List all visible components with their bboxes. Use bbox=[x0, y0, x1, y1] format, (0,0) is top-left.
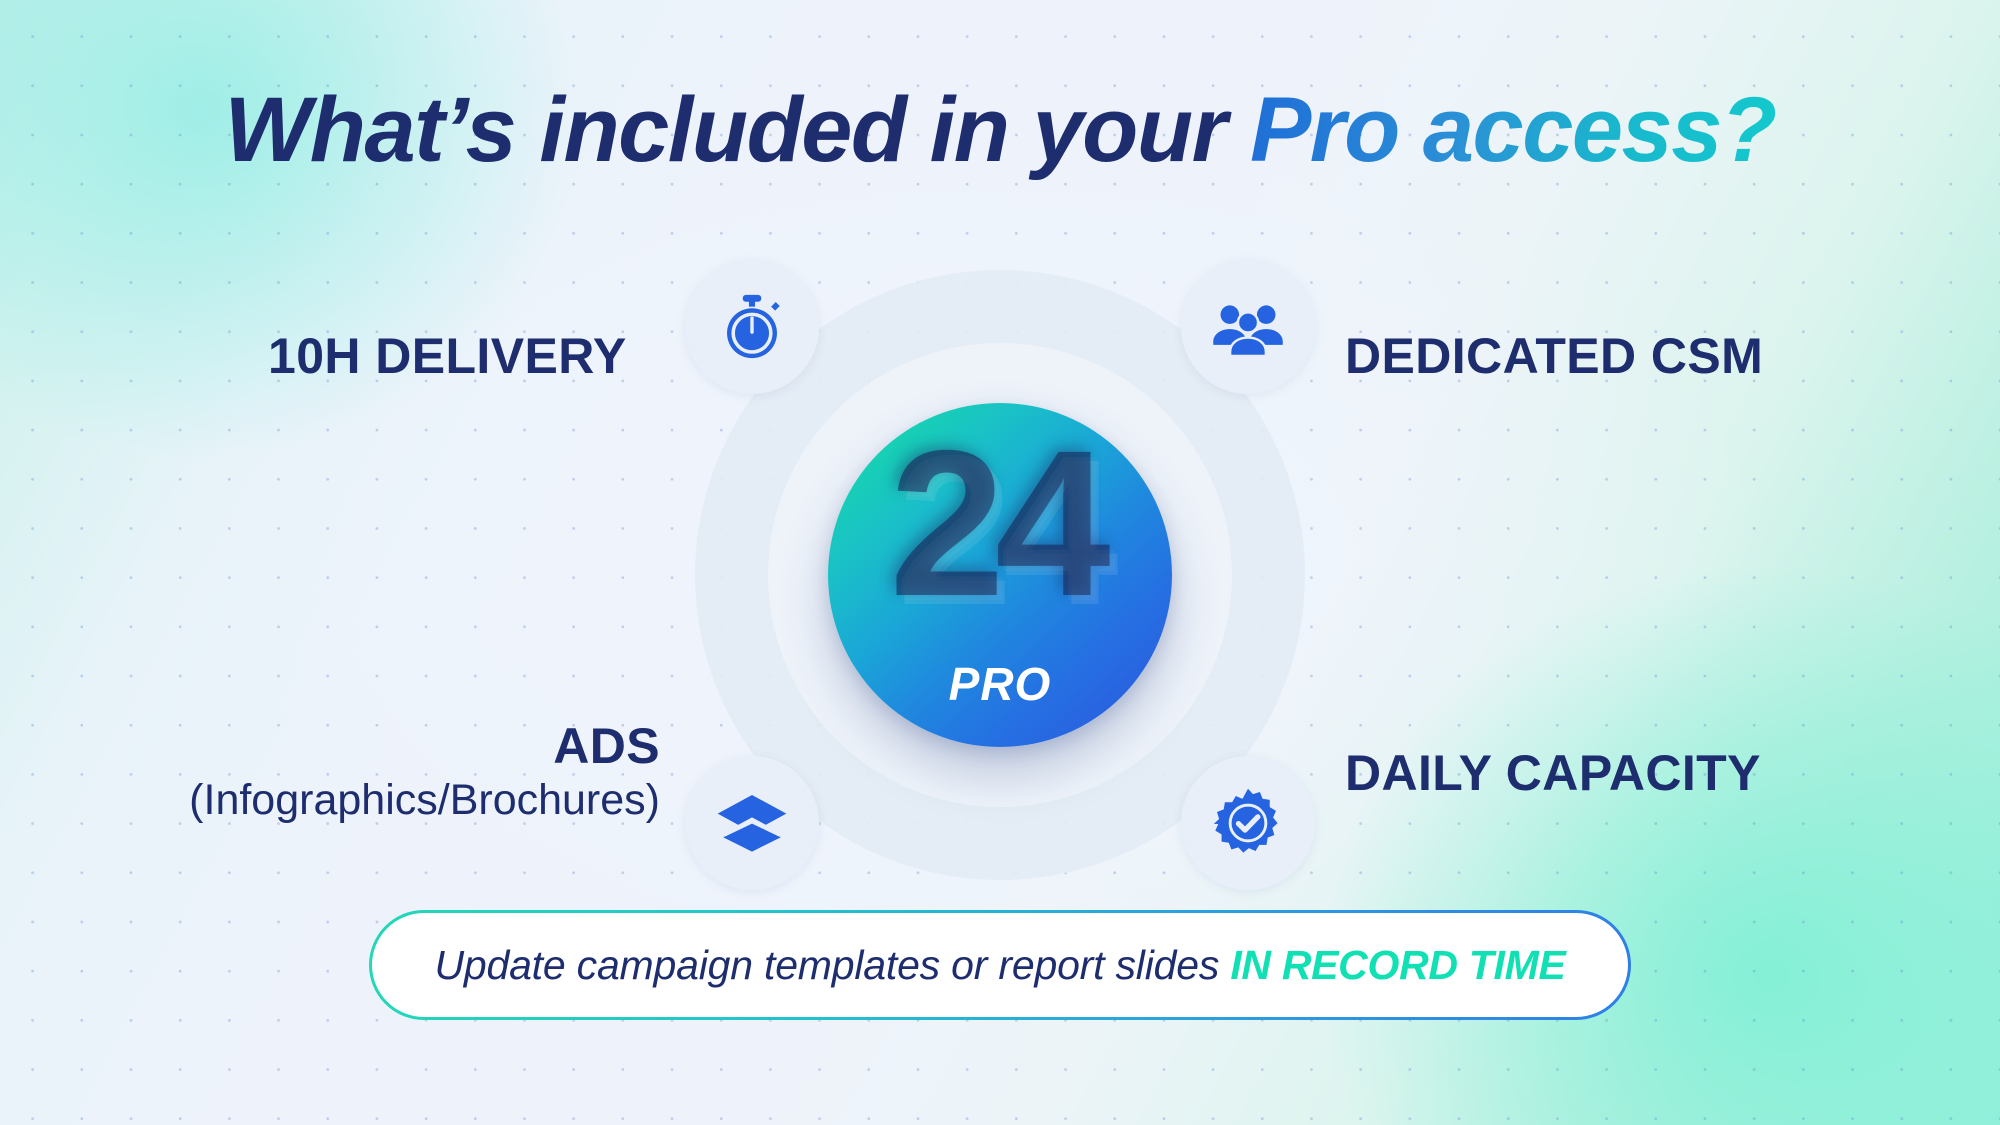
pro-logo-badge: 24 PRO bbox=[828, 403, 1172, 747]
people-group-icon bbox=[1209, 288, 1287, 366]
feature-icon-ads[interactable] bbox=[685, 756, 819, 890]
page-title-accent: Pro access? bbox=[1250, 79, 1776, 181]
feature-label-ads: ADS (Infographics/Brochures) bbox=[148, 718, 660, 824]
pro-logo-inner: 24 PRO bbox=[828, 403, 1172, 747]
feature-label-csm-text: DEDICATED CSM bbox=[1345, 328, 1763, 384]
bottom-banner-text: Update campaign templates or report slid… bbox=[434, 942, 1565, 989]
page-title-primary: What’s included in your bbox=[224, 79, 1250, 181]
stopwatch-icon bbox=[715, 290, 789, 364]
layers-icon bbox=[712, 783, 792, 863]
feature-label-capacity: DAILY CAPACITY bbox=[1345, 745, 1761, 801]
bottom-banner-inner: Update campaign templates or report slid… bbox=[372, 913, 1628, 1017]
feature-icon-csm[interactable] bbox=[1181, 260, 1315, 394]
feature-icon-delivery[interactable] bbox=[685, 260, 819, 394]
feature-label-capacity-text: DAILY CAPACITY bbox=[1345, 745, 1761, 801]
logo-tier-label: PRO bbox=[828, 657, 1172, 711]
verified-badge-icon bbox=[1211, 786, 1285, 860]
logo-number: 24 bbox=[828, 425, 1172, 633]
feature-icon-capacity[interactable] bbox=[1181, 756, 1315, 890]
feature-label-delivery: 10H DELIVERY bbox=[268, 328, 627, 384]
background-wash-bottom-right bbox=[1320, 565, 2000, 1125]
page-title: What’s included in your Pro access? bbox=[0, 82, 2000, 180]
feature-label-ads-text: ADS bbox=[553, 718, 660, 774]
bottom-banner: Update campaign templates or report slid… bbox=[369, 910, 1631, 1020]
infographic-canvas: What’s included in your Pro access? 24 P… bbox=[0, 0, 2000, 1125]
feature-label-delivery-text: 10H DELIVERY bbox=[268, 328, 627, 384]
feature-label-csm: DEDICATED CSM bbox=[1345, 328, 1763, 384]
feature-sublabel-ads-text: (Infographics/Brochures) bbox=[148, 776, 660, 824]
bottom-banner-text-highlight: IN RECORD TIME bbox=[1230, 942, 1565, 988]
background-wash-top-left bbox=[0, 0, 580, 460]
bottom-banner-text-main: Update campaign templates or report slid… bbox=[434, 942, 1230, 988]
